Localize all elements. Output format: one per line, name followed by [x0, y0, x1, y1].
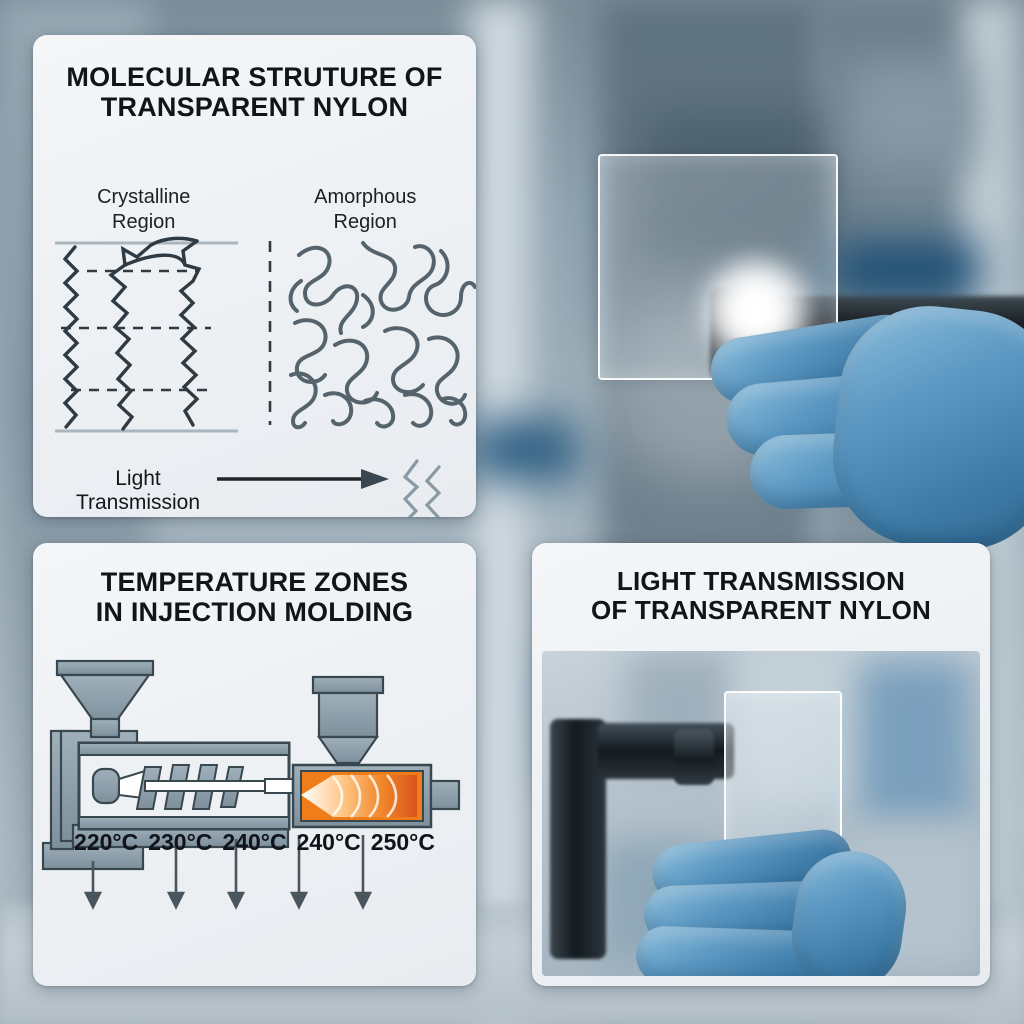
crystalline-region-label: Crystalline Region: [33, 185, 255, 235]
temperature-zone-value-3: 240°C: [222, 829, 286, 856]
nylon-plate-sample: [724, 691, 842, 851]
light-transmission-arrow-group: [213, 455, 453, 517]
gloved-hand: [716, 308, 1024, 558]
arrow-head-icon: [361, 469, 389, 489]
molecular-structure-diagram: [33, 235, 476, 450]
crystalline-label-line2: Region: [112, 211, 175, 233]
light-transmission-photo: [542, 651, 980, 976]
light-transmission-label: Light Transmission: [63, 467, 213, 515]
panel-temperature-title: TEMPERATURE ZONES IN INJECTION MOLDING: [33, 567, 476, 627]
crystalline-label-line1: Crystalline: [97, 186, 190, 208]
light-transmission-label-line1: Light: [115, 467, 161, 490]
barrel-bottom-wall: [79, 817, 289, 829]
injection-molding-machine-diagram: [33, 639, 476, 939]
barrel-top-wall: [79, 743, 289, 755]
amorphous-chains: [291, 243, 475, 427]
panel-molecular-structure: MOLECULAR STRUTURE OF TRANSPARENT NYLON …: [33, 35, 476, 517]
region-label-row: Crystalline Region Amorphous Region: [33, 185, 476, 235]
nylon-plate-scene: [560, 120, 1024, 540]
nozzle-tip: [431, 781, 459, 809]
panel-light-transmission: LIGHT TRANSMISSION OF TRANSPARENT NYLON: [532, 543, 990, 986]
panel-light-title-line2: OF TRANSPARENT NYLON: [591, 595, 931, 625]
light-transmission-label-line2: Transmission: [76, 491, 200, 514]
panel-temperature-zones: TEMPERATURE ZONES IN INJECTION MOLDING: [33, 543, 476, 986]
temperature-zone-readouts: 220°C 230°C 240°C 240°C 250°C: [33, 829, 476, 856]
secondary-hopper-body: [319, 693, 377, 737]
temperature-zone-value-1: 220°C: [74, 829, 138, 856]
panel-structure-title: MOLECULAR STRUTURE OF TRANSPARENT NYLON: [33, 62, 476, 122]
panel-structure-title-line2: TRANSPARENT NYLON: [101, 92, 408, 122]
transmitted-light-zigzag-icon: [405, 461, 439, 517]
secondary-hopper-funnel: [319, 737, 377, 763]
panel-temperature-title-line1: TEMPERATURE ZONES: [101, 567, 408, 597]
panel-light-title-line1: LIGHT TRANSMISSION: [617, 566, 905, 596]
screw-drive-head: [93, 769, 119, 803]
hopper-funnel: [61, 675, 149, 723]
secondary-hopper: [313, 677, 383, 763]
amorphous-label-line1: Amorphous: [314, 186, 416, 208]
panel-temperature-title-line2: IN INJECTION MOLDING: [96, 597, 414, 627]
secondary-hopper-rim: [313, 677, 383, 693]
robotic-arm-end-joint: [674, 729, 714, 785]
light-transmission-row: Light Transmission: [63, 455, 463, 517]
panel-structure-title-line1: MOLECULAR STRUTURE OF: [66, 62, 442, 92]
temperature-zone-value-4: 240°C: [297, 829, 361, 856]
feed-hopper: [57, 661, 153, 737]
screw-core-shaft: [145, 781, 265, 791]
crystalline-chains: [65, 238, 199, 429]
amorphous-region-label: Amorphous Region: [255, 185, 477, 235]
temperature-zone-value-2: 230°C: [148, 829, 212, 856]
lab-background-blob-3: [860, 661, 970, 821]
temperature-zone-value-5: 250°C: [371, 829, 435, 856]
hopper-rim: [57, 661, 153, 675]
gloved-hand-holding-sample: [626, 829, 906, 976]
hopper-throat: [91, 719, 119, 737]
heated-injection-barrel: [293, 765, 459, 827]
screw-barrel-assembly: [79, 743, 311, 829]
panel-light-title: LIGHT TRANSMISSION OF TRANSPARENT NYLON: [532, 567, 990, 625]
amorphous-label-line2: Region: [334, 211, 397, 233]
